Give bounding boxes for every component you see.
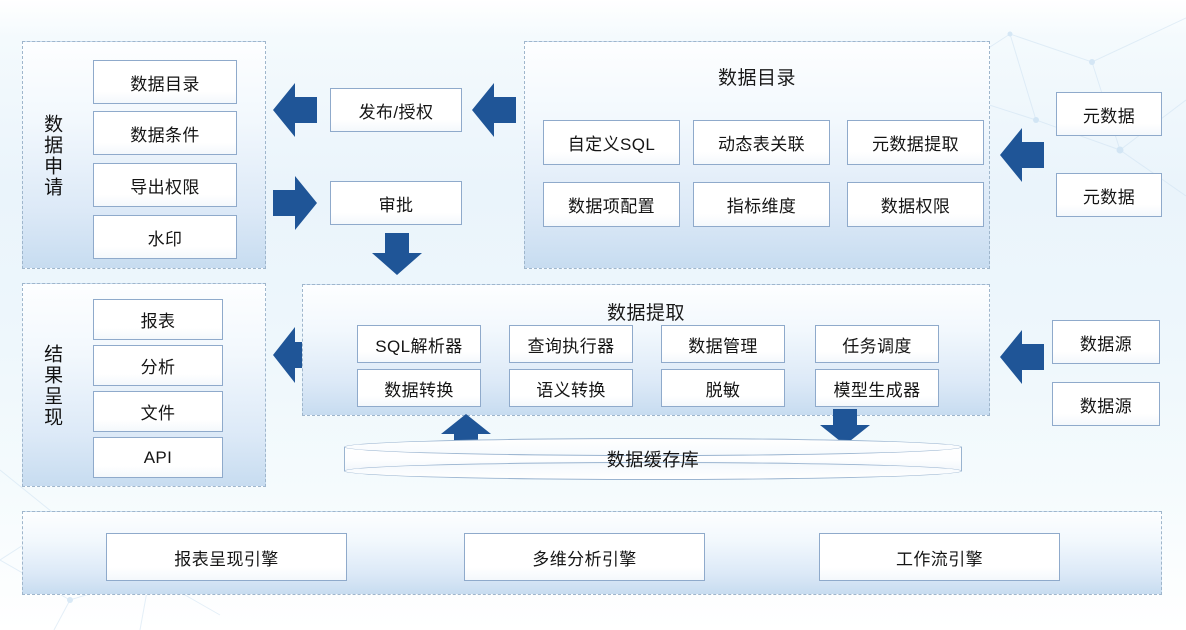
box-catalog-data-item-config[interactable]: 数据项配置: [543, 182, 680, 227]
box-result-file[interactable]: 文件: [93, 391, 223, 432]
arrow-publish-to-request-icon: [273, 83, 317, 137]
box-extraction-task-scheduling[interactable]: 任务调度: [815, 325, 939, 363]
box-extraction-sql-parser[interactable]: SQL解析器: [357, 325, 481, 363]
box-data-source-1[interactable]: 数据源: [1052, 320, 1160, 364]
panel-data-extraction-title: 数据提取: [303, 298, 989, 325]
box-data-request-catalog[interactable]: 数据目录: [93, 60, 237, 104]
panel-result-presentation-label: 结果呈现: [31, 298, 71, 474]
panel-data-catalog-title: 数据目录: [525, 63, 989, 90]
box-result-analysis[interactable]: 分析: [93, 345, 223, 386]
box-result-api[interactable]: API: [93, 437, 223, 478]
box-extraction-data-management[interactable]: 数据管理: [661, 325, 785, 363]
box-extraction-desensitization[interactable]: 脱敏: [661, 369, 785, 407]
arrow-datasource-to-extraction-icon: [1000, 330, 1044, 384]
box-extraction-semantic-transform[interactable]: 语义转换: [509, 369, 633, 407]
arrow-request-to-approval-icon: [273, 176, 317, 230]
diagram-canvas: 数据申请 数据目录 数据条件 导出权限 水印 发布/授权 审批 数据目录 自定义…: [0, 0, 1186, 630]
box-data-source-2[interactable]: 数据源: [1052, 382, 1160, 426]
cylinder-data-cache-label: 数据缓存库: [344, 438, 962, 480]
cylinder-data-cache: 数据缓存库: [344, 438, 962, 480]
box-metadata-1[interactable]: 元数据: [1056, 92, 1162, 136]
panel-data-request-label: 数据申请: [31, 54, 71, 258]
box-publish-authorize[interactable]: 发布/授权: [330, 88, 462, 132]
box-data-request-watermark[interactable]: 水印: [93, 215, 237, 259]
arrow-catalog-to-publish-icon: [472, 83, 516, 137]
box-data-request-export-permission[interactable]: 导出权限: [93, 163, 237, 207]
arrow-metadata-to-catalog-icon: [1000, 128, 1044, 182]
box-extraction-data-transform[interactable]: 数据转换: [357, 369, 481, 407]
box-catalog-dynamic-table-join[interactable]: 动态表关联: [693, 120, 830, 165]
box-catalog-metric-dimension[interactable]: 指标维度: [693, 182, 830, 227]
arrow-approval-to-extraction-icon: [372, 233, 422, 275]
box-catalog-metadata-extraction[interactable]: 元数据提取: [847, 120, 984, 165]
box-engine-multidim-analysis[interactable]: 多维分析引擎: [464, 533, 705, 581]
box-data-request-conditions[interactable]: 数据条件: [93, 111, 237, 155]
box-engine-report-presentation[interactable]: 报表呈现引擎: [106, 533, 347, 581]
box-catalog-custom-sql[interactable]: 自定义SQL: [543, 120, 680, 165]
box-engine-workflow[interactable]: 工作流引擎: [819, 533, 1060, 581]
box-extraction-query-executor[interactable]: 查询执行器: [509, 325, 633, 363]
box-result-report[interactable]: 报表: [93, 299, 223, 340]
box-metadata-2[interactable]: 元数据: [1056, 173, 1162, 217]
box-catalog-data-permission[interactable]: 数据权限: [847, 182, 984, 227]
box-extraction-model-generator[interactable]: 模型生成器: [815, 369, 939, 407]
box-approval[interactable]: 审批: [330, 181, 462, 225]
